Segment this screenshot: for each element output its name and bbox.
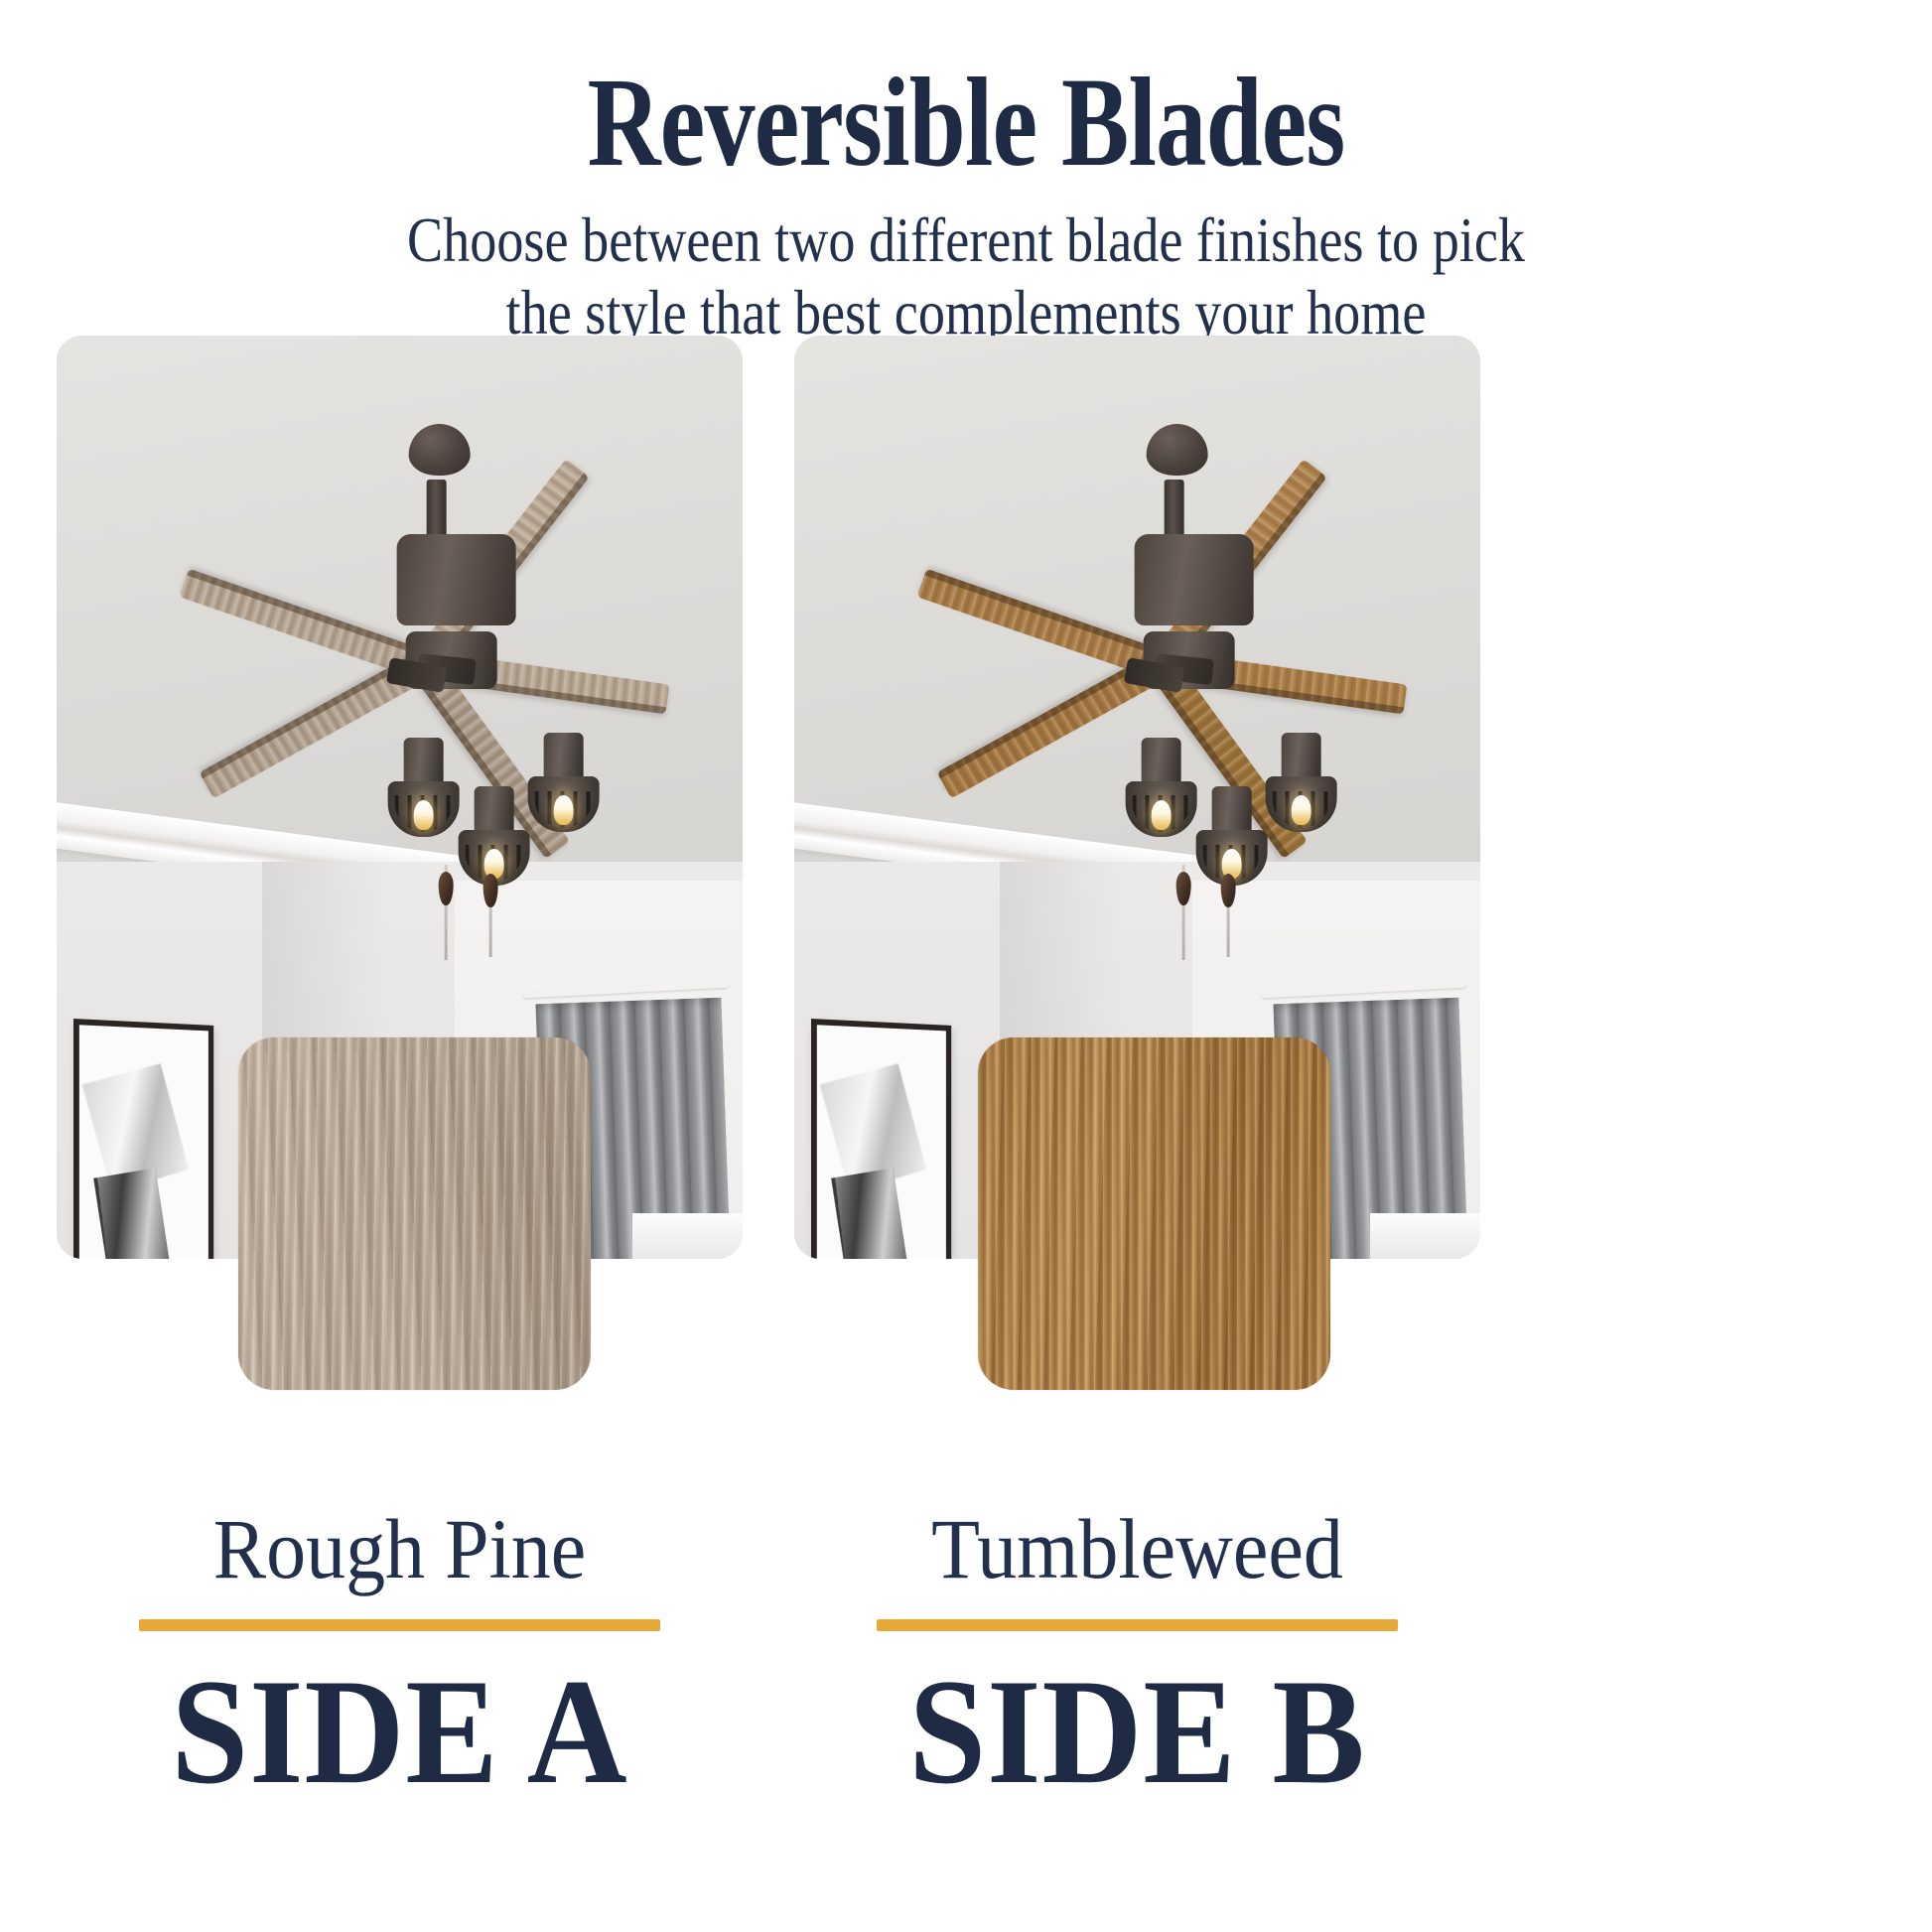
side-label: SIDE A: [84, 1655, 716, 1809]
caption-side-b: Tumbleweed SIDE B: [794, 1505, 1480, 1809]
pull-chain-knob[interactable]: [1175, 872, 1190, 905]
caged-light: [528, 733, 600, 832]
lamp-cage: [388, 781, 460, 837]
header: Reversible Blades Choose between two dif…: [0, 56, 1932, 349]
pull-chain-knob[interactable]: [438, 872, 453, 905]
ceiling-canopy: [1146, 424, 1207, 476]
wood-texture: [978, 1037, 1330, 1390]
light-kit: [388, 723, 583, 967]
light-bulb: [414, 800, 434, 830]
lamp-cage: [528, 776, 600, 832]
light-bulb: [1152, 800, 1172, 830]
ceiling-canopy: [408, 424, 470, 476]
finish-name-label: Rough Pine: [80, 1505, 719, 1593]
wood-texture: [238, 1037, 591, 1390]
light-kit: [1126, 723, 1320, 967]
light-bulb: [554, 795, 574, 825]
lamp-neck: [1142, 738, 1181, 783]
window-sill: [632, 1213, 743, 1260]
lamp-neck: [474, 786, 513, 832]
pull-chain-knob[interactable]: [1221, 874, 1236, 907]
caption-side-a: Rough Pine SIDE A: [57, 1505, 743, 1809]
caged-light: [1195, 786, 1267, 886]
rough-pine-swatch: [238, 1037, 591, 1390]
blade-edge: [187, 568, 428, 657]
gold-divider: [139, 1619, 660, 1631]
framed-art: [811, 1019, 951, 1259]
blade-edge: [199, 651, 419, 777]
caged-light: [1126, 738, 1197, 837]
lamp-neck: [404, 738, 444, 783]
blade-edge: [936, 651, 1157, 777]
page-subtitle: Choose between two different blade finis…: [135, 205, 1797, 349]
window-sill: [1370, 1213, 1480, 1260]
motor-housing: [397, 534, 516, 625]
blade-edge: [924, 568, 1166, 657]
page-title: Reversible Blades: [194, 56, 1739, 191]
lamp-neck: [1282, 733, 1321, 778]
caged-light: [1266, 733, 1337, 832]
side-label: SIDE B: [822, 1655, 1453, 1809]
tumbleweed-swatch: [978, 1037, 1330, 1390]
lamp-cage: [1126, 781, 1197, 837]
gold-divider: [877, 1619, 1398, 1631]
finish-name-label: Tumbleweed: [818, 1505, 1456, 1593]
pull-chain-knob[interactable]: [483, 874, 498, 907]
lamp-neck: [1211, 786, 1251, 832]
lamp-neck: [544, 733, 584, 778]
ceiling-fan: [128, 382, 718, 992]
infographic-page: Reversible Blades Choose between two dif…: [0, 0, 1932, 1932]
subtitle-line-1: Choose between two different blade finis…: [135, 205, 1797, 277]
ceiling-fan: [866, 382, 1455, 992]
framed-art: [73, 1019, 213, 1259]
caged-light: [388, 738, 460, 837]
motor-housing: [1135, 534, 1254, 625]
caged-light: [458, 786, 529, 886]
lamp-cage: [1266, 776, 1337, 832]
light-bulb: [1292, 795, 1311, 825]
